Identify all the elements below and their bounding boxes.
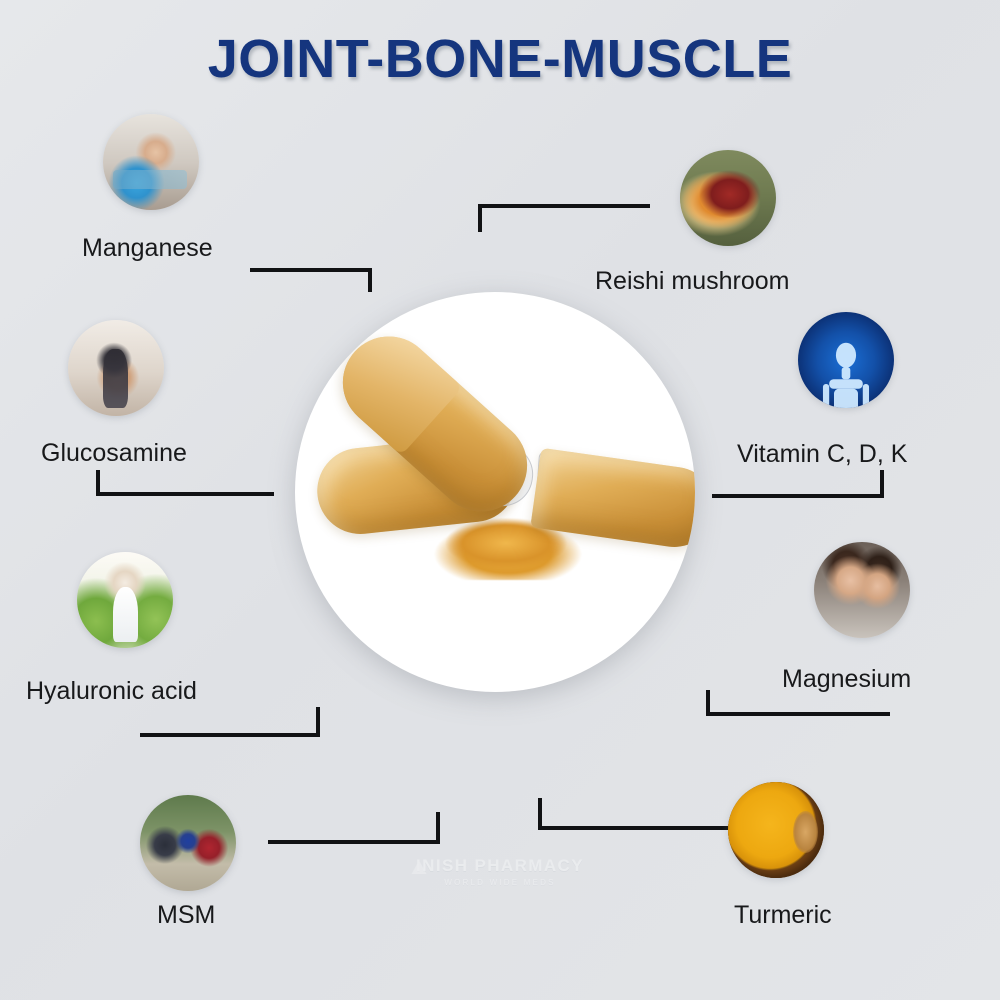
ingredient-label-magnesium: Magnesium	[782, 666, 911, 694]
connector-v-hyaluronic-acid	[316, 707, 320, 737]
woman-exercising-photo-fill	[103, 114, 199, 210]
turmeric-bowl-photo-fill	[728, 782, 824, 878]
reishi-mushroom-photo-fill	[680, 150, 776, 246]
two-smiling-women-photo-fill	[814, 542, 910, 638]
connector-h-magnesium	[706, 712, 890, 716]
connector-v-magnesium	[706, 690, 710, 716]
watermark-subtitle: WORLD WIDE MEDS	[416, 878, 584, 887]
capsule-illustration	[295, 292, 695, 692]
ingredient-label-hyaluronic-acid: Hyaluronic acid	[26, 678, 197, 706]
ingredient-label-manganese: Manganese	[82, 235, 213, 263]
ingredient-label-vitamin-cdk: Vitamin C, D, K	[737, 441, 907, 469]
connector-v-msm	[436, 812, 440, 844]
skeleton-icon	[798, 312, 894, 408]
watermark: INISH PHARMACY WORLD WIDE MEDS	[416, 856, 584, 887]
center-product-image	[295, 292, 695, 692]
connector-v-reishi-mushroom	[478, 204, 482, 232]
woman-outdoors-photo	[77, 552, 173, 648]
watermark-title: INISH PHARMACY	[416, 856, 584, 876]
connector-h-manganese	[250, 268, 372, 272]
reishi-mushroom-photo	[680, 150, 776, 246]
connector-h-turmeric	[538, 826, 728, 830]
connector-v-glucosamine	[96, 470, 100, 496]
connector-h-reishi-mushroom	[478, 204, 650, 208]
woman-exercising-photo	[103, 114, 199, 210]
connector-h-hyaluronic-acid	[140, 733, 320, 737]
three-women-walking-photo	[140, 795, 236, 891]
pharmacy-logo-icon	[410, 859, 428, 877]
two-smiling-women-photo	[814, 542, 910, 638]
infographic-canvas: JOINT-BONE-MUSCLE ManganeseReishi mushro…	[0, 0, 1000, 1000]
woman-stretching-photo	[68, 320, 164, 416]
three-women-walking-photo-fill	[140, 795, 236, 891]
woman-stretching-photo-fill	[68, 320, 164, 416]
connector-v-turmeric	[538, 798, 542, 830]
ingredient-label-msm: MSM	[157, 902, 215, 930]
ingredient-label-glucosamine: Glucosamine	[41, 440, 187, 468]
connector-v-manganese	[368, 268, 372, 292]
blue-skeleton-photo	[798, 312, 894, 408]
ingredient-label-reishi-mushroom: Reishi mushroom	[595, 268, 790, 296]
connector-v-vitamin-cdk	[880, 470, 884, 498]
woman-outdoors-photo-fill	[77, 552, 173, 648]
ingredient-label-turmeric: Turmeric	[734, 902, 832, 930]
connector-h-msm	[268, 840, 440, 844]
turmeric-bowl-photo	[728, 782, 824, 878]
page-title: JOINT-BONE-MUSCLE	[0, 28, 1000, 90]
connector-h-glucosamine	[96, 492, 274, 496]
connector-h-vitamin-cdk	[712, 494, 884, 498]
